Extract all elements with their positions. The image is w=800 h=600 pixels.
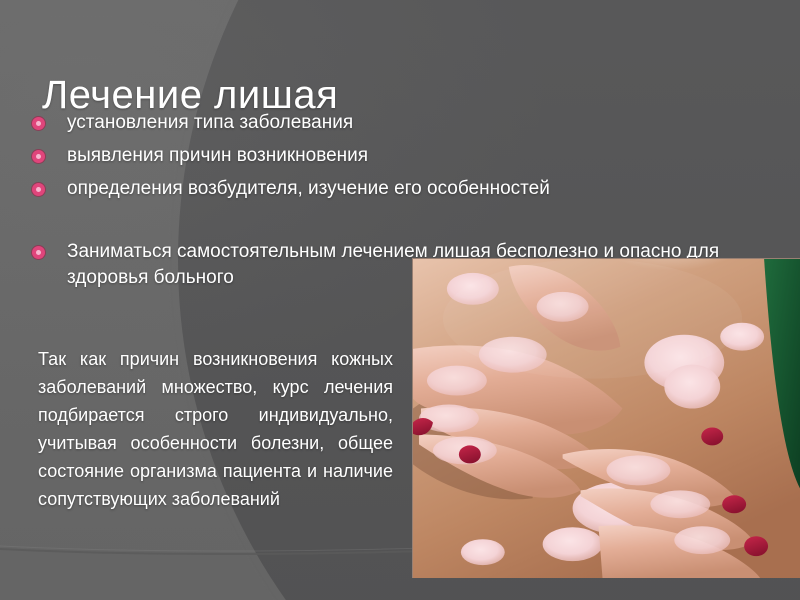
list-item: определения возбудителя, изучение его ос… [28,176,788,202]
body-paragraph: Так как причин возникновения кожных забо… [38,345,393,513]
list-item: установления типа заболевания [28,110,788,136]
list-item-label: выявления причин возникновения [67,143,788,169]
list-item-label: установления типа заболевания [67,110,788,136]
target-dot-bullet-icon [32,117,45,130]
list-item-label: определения возбудителя, изучение его ос… [67,176,788,202]
vitiligo-skin-photograph [412,258,800,578]
target-dot-bullet-icon [32,246,45,259]
presentation-slide: Лечение лишая установления типа заболева… [0,0,800,600]
target-dot-bullet-icon [32,150,45,163]
list-item: выявления причин возникновения [28,143,788,169]
target-dot-bullet-icon [32,183,45,196]
